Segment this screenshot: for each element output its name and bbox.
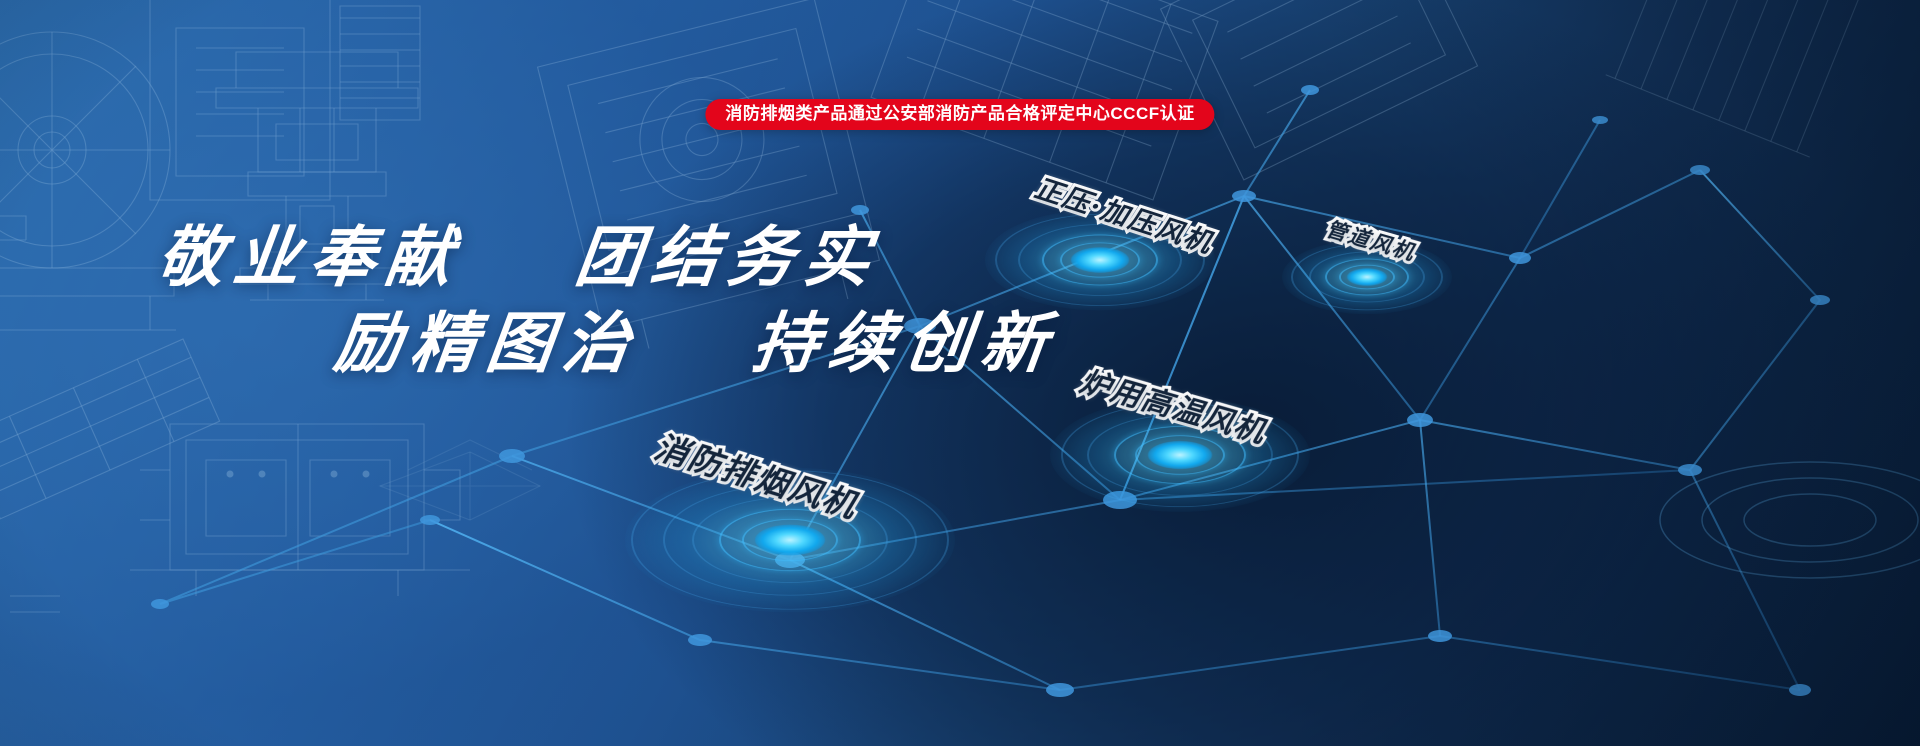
- slogan-line1-part-a: 敬业奉献: [153, 218, 467, 296]
- hotspot-fire-smoke-exhaust-fan[interactable]: 消防排烟风机: [620, 420, 950, 620]
- hero-banner: 消防排烟类产品通过公安部消防产品合格评定中心CCCF认证 敬业奉献 团结务实 励…: [0, 0, 1920, 746]
- slogan-line2-part-a: 励精图治: [330, 304, 644, 382]
- slogan-line1-part-b: 团结务实: [571, 218, 885, 296]
- slogan-line-1: 敬业奉献 团结务实: [153, 214, 1063, 300]
- hotspot-high-temperature-furnace-fan[interactable]: 炉用高温风机: [1030, 360, 1330, 520]
- hotspot-duct-fan[interactable]: 管道风机: [1285, 205, 1485, 325]
- certification-banner: 消防排烟类产品通过公安部消防产品合格评定中心CCCF认证: [705, 99, 1214, 130]
- slogan-block: 敬业奉献 团结务实 励精图治 持续创新: [150, 214, 1057, 386]
- slogan-line2-part-b: 持续创新: [748, 304, 1062, 382]
- slogan-line-2: 励精图治 持续创新: [330, 300, 1063, 386]
